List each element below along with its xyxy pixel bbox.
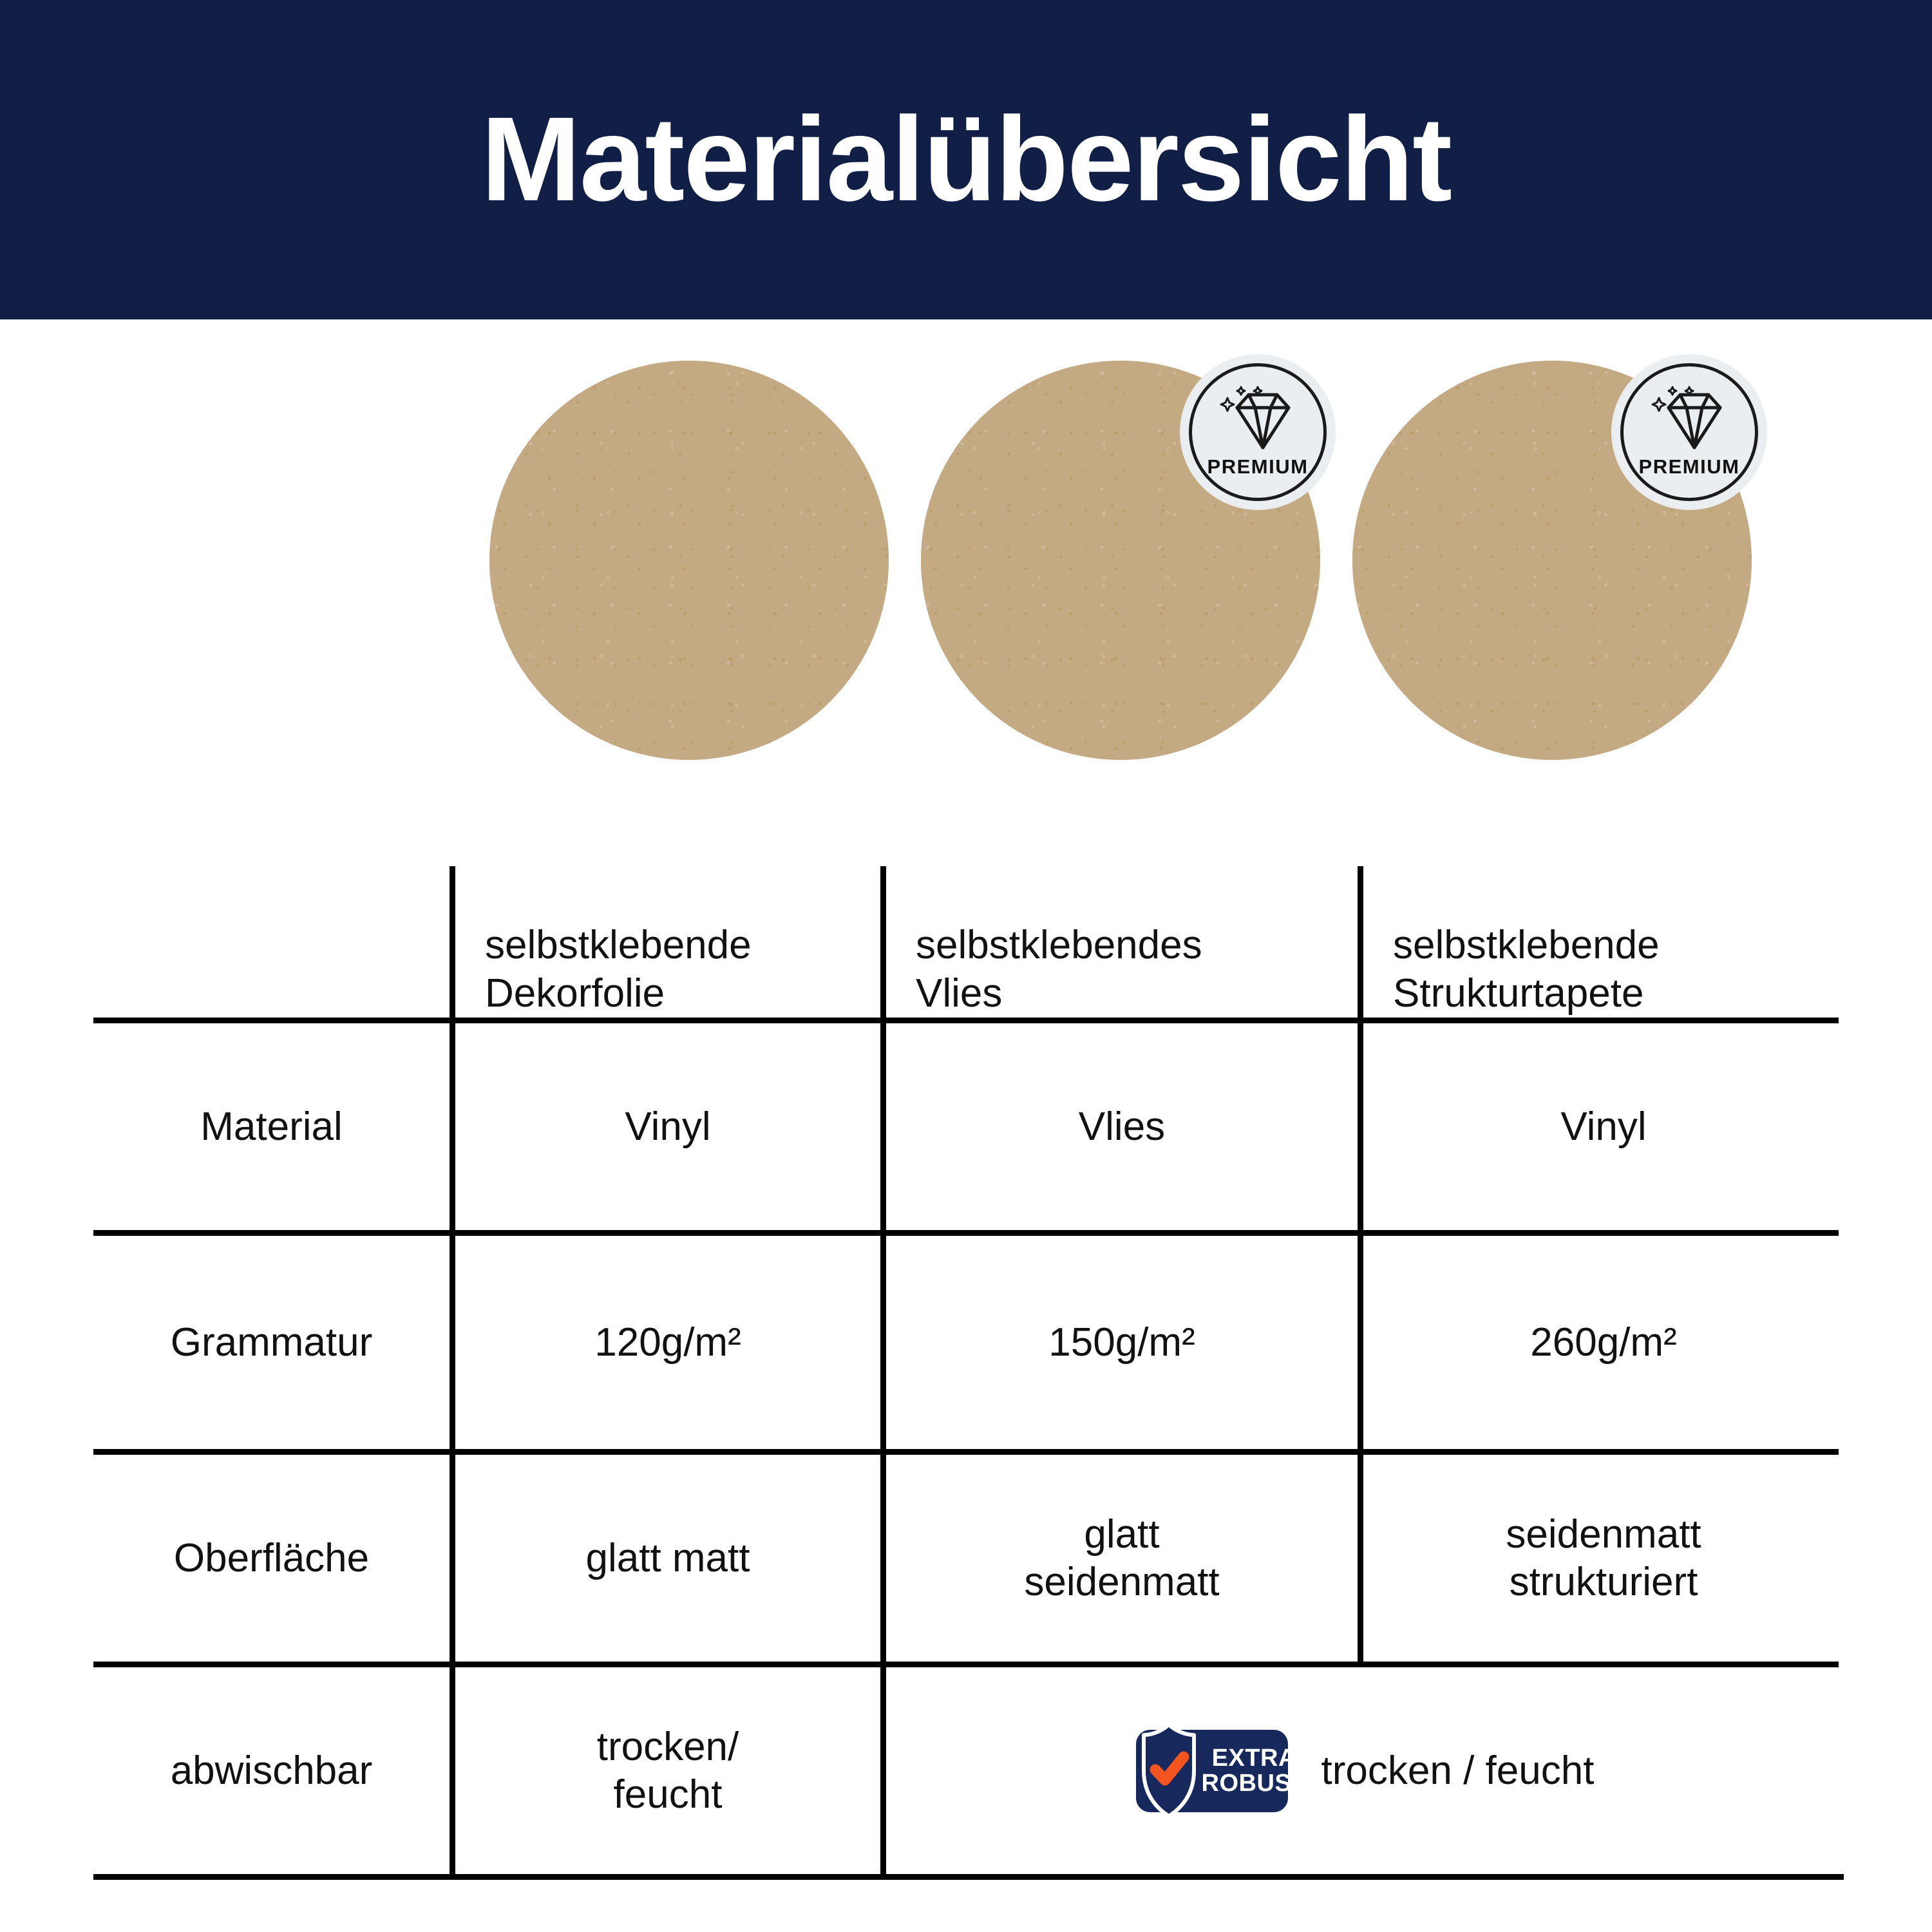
cell-oberflaeche-strukturtapete: seidenmatt strukturiert — [1363, 1455, 1844, 1662]
value-line-1: trocken/ — [597, 1723, 739, 1770]
swatch-strukturtapete: PREMIUM — [1352, 361, 1752, 760]
diamond-icon — [1649, 386, 1729, 453]
stone-wall-image-1 — [489, 361, 889, 760]
cell-abwischbar-merged-text: trocken / feucht — [1321, 1747, 1595, 1794]
table-column-divider-3 — [1358, 866, 1363, 1662]
swatch-vlies: PREMIUM — [921, 361, 1320, 760]
row-label-grammatur: Grammatur — [93, 1236, 450, 1449]
cell-grammatur-strukturtapete: 260g/m² — [1363, 1236, 1844, 1449]
cell-abwischbar-dekorfolie: trocken/ feucht — [455, 1667, 880, 1874]
value-line-2: seidenmatt — [1024, 1558, 1219, 1605]
header-line-1: selbstklebende — [1393, 922, 1844, 969]
premium-badge-label: PREMIUM — [1207, 455, 1309, 478]
cell-material-dekorfolie: Vinyl — [455, 1023, 880, 1230]
extra-robust-line-1: EXTRA — [1202, 1746, 1307, 1771]
material-comparison-table: selbstklebende Dekorfolie selbstklebende… — [93, 866, 1844, 1884]
page-title: Materialübersicht — [481, 100, 1451, 220]
value-line-1: glatt — [1024, 1511, 1219, 1558]
table-column-divider-2 — [880, 866, 886, 1874]
table-header-dekorfolie: selbstklebende Dekorfolie — [455, 866, 880, 1021]
cell-grammatur-dekorfolie: 120g/m² — [455, 1236, 880, 1449]
header-line-1: selbstklebende — [485, 922, 880, 969]
shield-check-icon — [1140, 1721, 1198, 1821]
table-column-divider-1 — [450, 866, 455, 1874]
cell-abwischbar-merged: EXTRA ROBUST trocken / feucht — [886, 1667, 1844, 1874]
table-rule-2 — [93, 1230, 1839, 1236]
header-line-2: Strukturtapete — [1393, 970, 1844, 1018]
row-label-material: Material — [93, 1023, 450, 1230]
value-line-2: feucht — [597, 1771, 739, 1818]
stone-grit-overlay — [489, 361, 889, 760]
cell-grammatur-vlies: 150g/m² — [886, 1236, 1358, 1449]
page-header: Materialübersicht — [0, 0, 1932, 319]
premium-badge-label: PREMIUM — [1639, 455, 1740, 478]
cell-oberflaeche-vlies: glatt seidenmatt — [886, 1455, 1358, 1662]
row-label-abwischbar: abwischbar — [93, 1667, 450, 1874]
header-line-2: Vlies — [916, 970, 1358, 1018]
row-label-oberflaeche: Oberfläche — [93, 1455, 450, 1662]
header-line-2: Dekorfolie — [485, 970, 880, 1018]
extra-robust-badge: EXTRA ROBUST — [1136, 1730, 1288, 1812]
table-header-vlies: selbstklebendes Vlies — [886, 866, 1358, 1021]
value-line-2: strukturiert — [1506, 1558, 1701, 1605]
swatch-dekorfolie — [489, 361, 889, 760]
premium-badge-strukturtapete: PREMIUM — [1611, 354, 1767, 510]
header-line-1: selbstklebendes — [916, 922, 1358, 969]
material-overview-page: Materialübersicht — [0, 0, 1932, 1932]
table-rule-5 — [93, 1874, 1844, 1880]
premium-badge-vlies: PREMIUM — [1180, 354, 1336, 510]
cell-oberflaeche-dekorfolie: glatt matt — [455, 1455, 880, 1662]
table-rule-3 — [93, 1449, 1839, 1455]
diamond-icon — [1218, 386, 1298, 453]
table-header-strukturtapete: selbstklebende Strukturtapete — [1363, 866, 1844, 1021]
value-line-1: seidenmatt — [1506, 1511, 1701, 1558]
swatch-row: PREMIUM — [0, 361, 1932, 773]
extra-robust-line-2: ROBUST — [1202, 1771, 1307, 1796]
table-rule-4 — [93, 1662, 1839, 1667]
cell-material-strukturtapete: Vinyl — [1363, 1023, 1844, 1230]
cell-material-vlies: Vlies — [886, 1023, 1358, 1230]
